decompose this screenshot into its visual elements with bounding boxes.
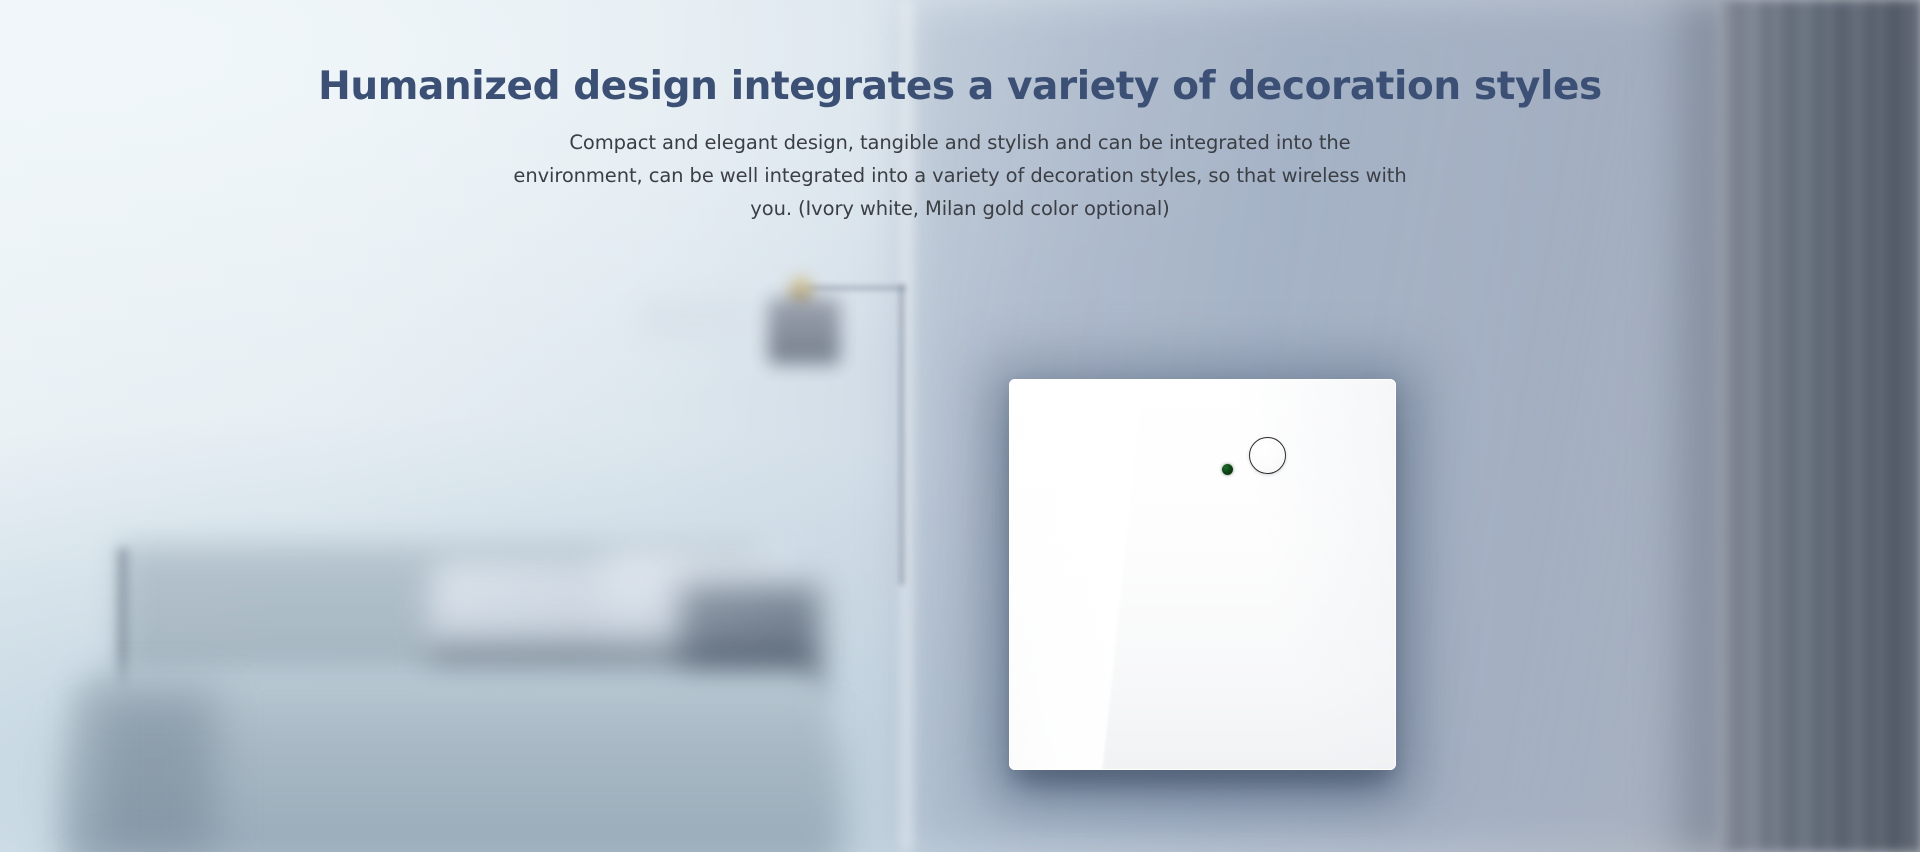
panel-contact-shadow bbox=[1019, 768, 1386, 784]
round-touch-button[interactable] bbox=[1249, 437, 1286, 474]
page-title: Humanized design integrates a variety of… bbox=[0, 64, 1920, 110]
subtitle-line-1: Compact and elegant design, tangible and… bbox=[0, 126, 1920, 159]
panel-face[interactable] bbox=[1009, 379, 1396, 770]
subtitle-line-3: you. (Ivory white, Milan gold color opti… bbox=[0, 192, 1920, 225]
lamp-background-haze bbox=[640, 300, 750, 340]
subtitle-line-2: environment, can be well integrated into… bbox=[0, 159, 1920, 192]
floor-lamp-arm bbox=[806, 285, 906, 291]
wall-panel-product bbox=[1009, 379, 1396, 770]
panel-bevel-edge bbox=[1009, 379, 1396, 770]
status-led bbox=[1222, 464, 1233, 475]
floor-lamp-shade bbox=[768, 298, 840, 364]
hero-copy-block: Humanized design integrates a variety of… bbox=[0, 0, 1920, 225]
panel-glass-reflection bbox=[1009, 379, 1239, 770]
product-hero-scene: Humanized design integrates a variety of… bbox=[0, 0, 1920, 852]
page-subtitle: Compact and elegant design, tangible and… bbox=[0, 126, 1920, 225]
bed-corner-shadow bbox=[95, 690, 215, 852]
panel-edge-reflection bbox=[1233, 379, 1396, 770]
floor-lamp-pole bbox=[898, 285, 905, 585]
